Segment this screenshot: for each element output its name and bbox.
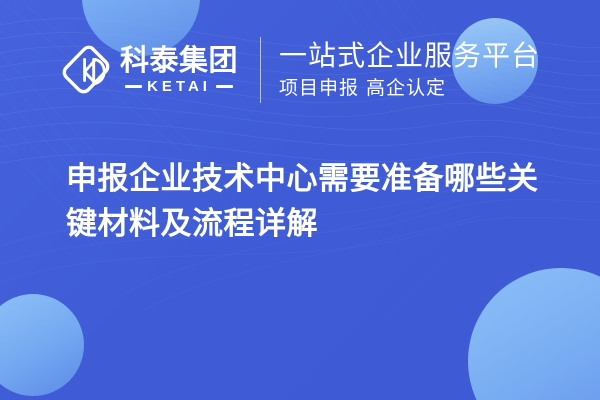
header-tagline: 一站式企业服务平台 项目申报 高企认定 xyxy=(279,39,540,101)
header-divider xyxy=(260,37,261,103)
tagline-sub-text: 项目申报 高企认定 xyxy=(279,75,540,101)
logo-dash-left-icon xyxy=(125,85,142,88)
tagline-main-text: 一站式企业服务平台 xyxy=(279,39,540,73)
brand-logo[interactable]: 科泰集团 KETAI xyxy=(62,45,238,95)
banner-header: 科泰集团 KETAI 一站式企业服务平台 项目申报 高企认定 xyxy=(0,0,600,140)
page-title-line-2: 键材料及流程详解 xyxy=(66,201,566,246)
logo-wordmark: 科泰集团 KETAI xyxy=(120,46,238,95)
promo-banner: 科泰集团 KETAI 一站式企业服务平台 项目申报 高企认定 申报企业技术中心需… xyxy=(0,0,600,400)
decorative-circle-bottom-right xyxy=(468,268,600,400)
logo-company-en: KETAI xyxy=(147,79,211,95)
page-title: 申报企业技术中心需要准备哪些关 键材料及流程详解 xyxy=(66,156,566,246)
ketai-diamond-monogram-icon xyxy=(62,45,110,95)
page-title-line-1: 申报企业技术中心需要准备哪些关 xyxy=(66,156,566,201)
logo-dash-right-icon xyxy=(216,85,233,88)
logo-english-row: KETAI xyxy=(120,79,238,95)
decorative-circle-bottom-left xyxy=(0,294,84,396)
logo-company-cn: 科泰集团 xyxy=(120,46,238,76)
